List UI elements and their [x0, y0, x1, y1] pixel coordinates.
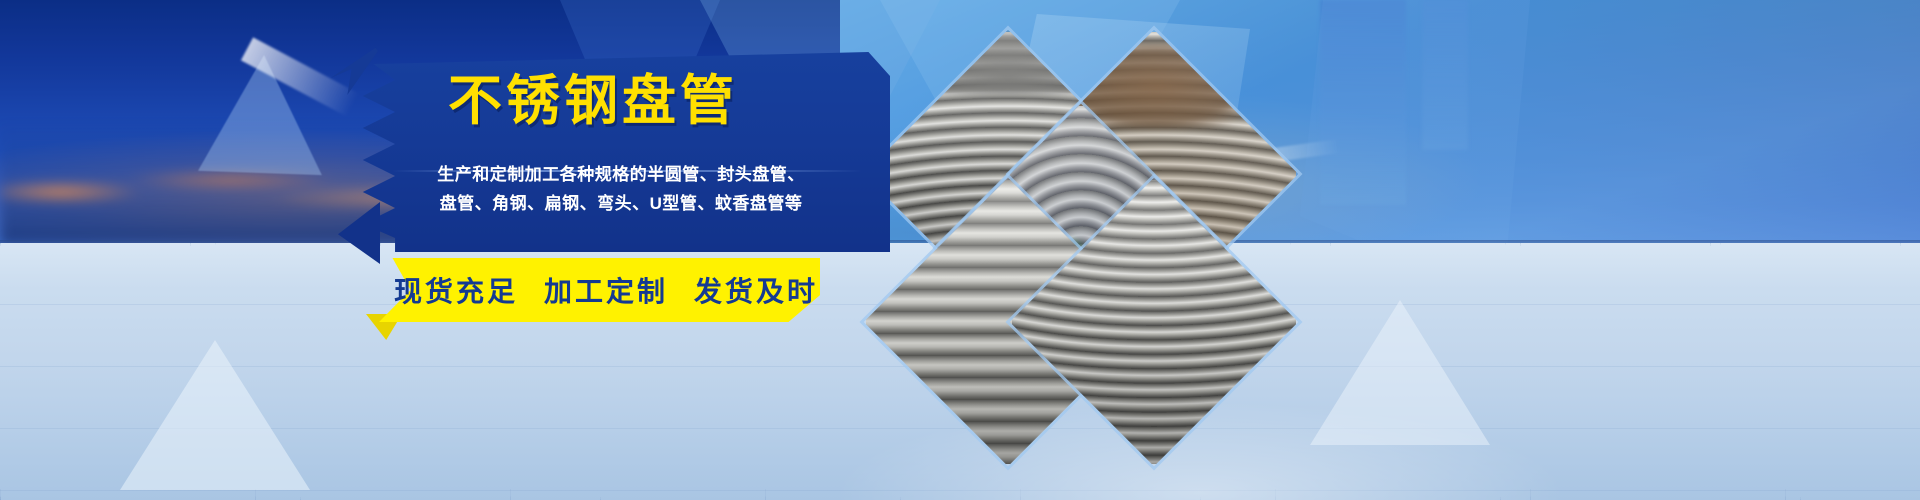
- feature-item-delivery: 发货及时: [694, 270, 818, 310]
- headline-panel: 不锈钢盘管 生产和定制加工各种规格的半圆管、封头盘管、 盘管、角钢、扁钢、弯头、…: [352, 52, 890, 252]
- feature-item-stock: 现货充足: [394, 270, 518, 310]
- decor-triangle-left-bottom: [120, 340, 310, 490]
- feature-ribbon: 现货充足 加工定制 发货及时: [370, 258, 820, 322]
- feature-ribbon-items: 现货充足 加工定制 发货及时: [370, 258, 820, 322]
- page-title: 不锈钢盘管: [448, 74, 738, 128]
- banner-subtitle-line-1: 生产和定制加工各种规格的半圆管、封头盘管、: [352, 160, 890, 189]
- feature-item-custom: 加工定制: [544, 270, 668, 310]
- banner-subtitle-line-2: 盘管、角钢、扁钢、弯头、U型管、蚊香盘管等: [352, 189, 890, 218]
- banner-subtitle: 生产和定制加工各种规格的半圆管、封头盘管、 盘管、角钢、扁钢、弯头、U型管、蚊香…: [352, 160, 890, 218]
- product-photo-collage: [836, 0, 1396, 500]
- banner-hero: 不锈钢盘管 生产和定制加工各种规格的半圆管、封头盘管、 盘管、角钢、扁钢、弯头、…: [0, 0, 1920, 500]
